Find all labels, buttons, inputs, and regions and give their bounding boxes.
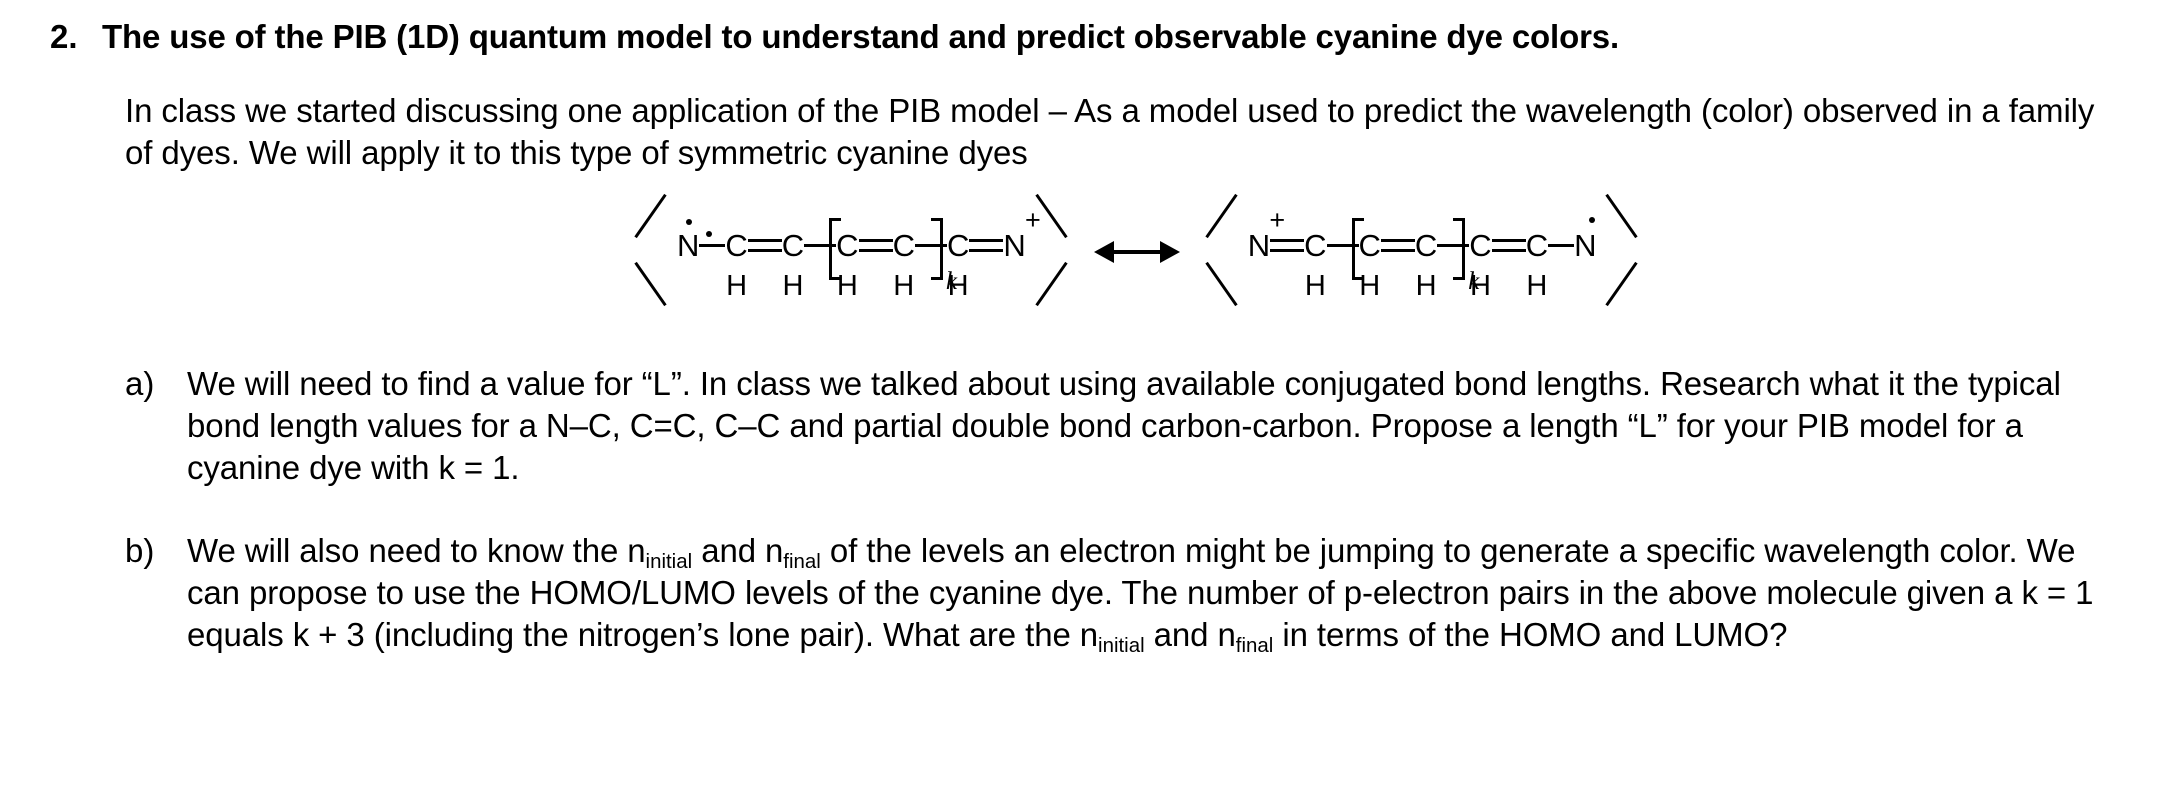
atom-cell-c2: C H [782, 192, 804, 301]
atom-cell-c1: C H [1304, 192, 1326, 301]
bond-double [748, 192, 782, 261]
atom-cell-n2: N [1574, 192, 1596, 272]
atom-cell-c4: C H [893, 192, 915, 301]
n-final-subscript: final [783, 550, 821, 573]
bond-single [699, 192, 725, 261]
resonance-arrow-icon [1094, 192, 1180, 314]
lone-pair-dot-icon [1589, 217, 1595, 223]
question-title: The use of the PIB (1D) quantum model to… [102, 18, 1619, 57]
lone-pair-dot-icon [686, 219, 692, 225]
bond-double [1492, 192, 1526, 261]
cyanine-dye-structure: N C H C H [40, 192, 2130, 327]
worksheet-page: 2. The use of the PIB (1D) quantum model… [0, 0, 2170, 790]
n-initial-subscript: initial [1098, 634, 1145, 657]
bond-single [1327, 192, 1345, 261]
atom-cell-c3: C H [836, 192, 858, 301]
resonance-form-right: N+ C H C H [1196, 192, 1649, 314]
hydrogen-label: H [1305, 272, 1326, 301]
hydrogen-label: H [726, 272, 747, 301]
bond-double [1381, 192, 1415, 261]
atom-cell-c3: C H [1415, 192, 1437, 301]
hydrogen-label: H [1526, 272, 1547, 301]
atom-label: C [947, 230, 969, 261]
bond-single [804, 192, 822, 261]
atom-label: C [782, 230, 804, 261]
atom-cell-c2: C H [1359, 192, 1381, 301]
bond-single [1437, 192, 1455, 261]
atom-label: C [1359, 230, 1381, 261]
bond-single [1548, 192, 1574, 261]
part-b-seg4: and n [1145, 616, 1236, 653]
atom-label: C [1526, 230, 1548, 261]
hydrogen-label: H [948, 272, 969, 301]
atom-label: C [1469, 230, 1491, 261]
hydrogen-label: H [837, 272, 858, 301]
part-a: a) We will need to find a value for “L”.… [125, 363, 2130, 489]
n-substituent-left [625, 192, 677, 314]
hydrogen-label: H [1470, 272, 1491, 301]
n-substituent-right [1026, 192, 1078, 314]
atom-label: C [1415, 230, 1437, 261]
atom-cell-n1: N [677, 192, 699, 272]
atom-label: N [1574, 230, 1596, 261]
n-initial-subscript: initial [646, 550, 693, 573]
bond-double [969, 192, 1003, 261]
bond-double [859, 192, 893, 261]
part-b: b) We will also need to know the ninitia… [125, 530, 2130, 656]
atom-cell-c5: C H [947, 192, 969, 301]
atom-cell-n1: N+ [1248, 192, 1270, 272]
n-substituent-left [1196, 192, 1248, 314]
part-b-seg2: and n [692, 532, 783, 569]
part-b-text: We will also need to know the ninitial a… [187, 530, 2127, 656]
atom-label: N+ [1003, 230, 1025, 261]
question-number: 2. [50, 18, 102, 57]
n-substituent-right [1596, 192, 1648, 314]
resonance-form-left: N C H C H [625, 192, 1078, 314]
question-heading: 2. The use of the PIB (1D) quantum model… [50, 18, 2130, 57]
part-b-seg1: We will also need to know the n [187, 532, 646, 569]
n-final-subscript: final [1236, 634, 1274, 657]
atom-cell-n2: N+ [1003, 192, 1025, 272]
atom-label: C [1304, 230, 1326, 261]
part-b-seg5: in terms of the HOMO and LUMO? [1273, 616, 1787, 653]
hydrogen-label: H [783, 272, 804, 301]
hydrogen-label: H [1359, 272, 1380, 301]
atom-label: C [893, 230, 915, 261]
atom-cell-c1: C H [725, 192, 747, 301]
atom-label: N+ [1248, 230, 1270, 261]
atom-label: N [677, 230, 699, 261]
atom-cell-c4: C H [1469, 192, 1491, 301]
hydrogen-label: H [893, 272, 914, 301]
hydrogen-label: H [1416, 272, 1437, 301]
atom-label: C [725, 230, 747, 261]
atom-cell-c5: C H [1526, 192, 1548, 301]
part-b-letter: b) [125, 530, 187, 572]
intro-paragraph: In class we started discussing one appli… [125, 90, 2130, 174]
atom-label: C [836, 230, 858, 261]
part-a-text: We will need to find a value for “L”. In… [187, 363, 2127, 489]
part-a-letter: a) [125, 363, 187, 405]
bond-single [915, 192, 933, 261]
